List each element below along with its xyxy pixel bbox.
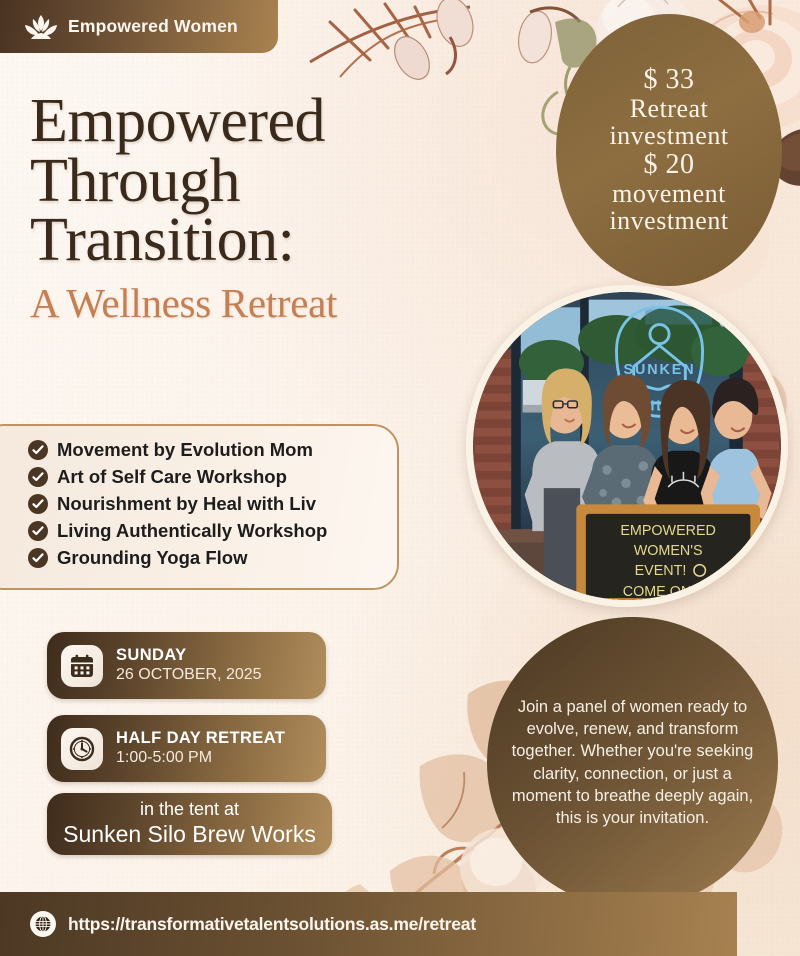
checklist-item: Art of Self Care Workshop: [28, 466, 397, 488]
globe-icon: [30, 911, 56, 937]
headline-line-1: Empowered: [30, 92, 500, 152]
event-photo-illustration: SUNKEN SILO: [473, 292, 781, 600]
pricing-badge: $ 33 Retreat investment $ 20 movement in…: [556, 14, 782, 286]
movement-price-label-2: investment: [609, 207, 728, 235]
footer-url[interactable]: https://transformativetalentsolutions.as…: [68, 914, 476, 935]
check-circle-icon: [28, 521, 48, 541]
description-text: Join a panel of women ready to evolve, r…: [509, 696, 756, 830]
checklist-item: Movement by Evolution Mom: [28, 439, 397, 461]
retreat-price-label-1: Retreat: [630, 95, 709, 123]
movement-price-amount: $ 20: [644, 150, 695, 180]
time-title: HALF DAY RETREAT: [116, 728, 285, 749]
date-title: SUNDAY: [116, 645, 262, 666]
checklist-item: Nourishment by Heal with Liv: [28, 493, 397, 515]
check-circle-icon: [28, 467, 48, 487]
movement-price-label-1: movement: [612, 180, 726, 208]
clock-icon: [61, 728, 103, 770]
time-value: 1:00-5:00 PM: [116, 748, 285, 769]
check-circle-icon: [28, 548, 48, 568]
brand-header-bar: Empowered Women: [0, 0, 278, 53]
checklist-item: Living Authentically Workshop: [28, 520, 397, 542]
poster-canvas: Empowered Women Empowered Through Transi…: [0, 0, 800, 956]
lotus-icon: [24, 14, 58, 40]
footer-bar: https://transformativetalentsolutions.as…: [0, 892, 737, 956]
time-info-text: HALF DAY RETREAT 1:00-5:00 PM: [116, 728, 285, 769]
checklist-item: Grounding Yoga Flow: [28, 547, 397, 569]
svg-text:WOMEN'S: WOMEN'S: [634, 543, 703, 559]
svg-text:EVENT!: EVENT!: [635, 563, 687, 579]
venue-info-text: in the tent at Sunken Silo Brew Works: [63, 799, 316, 848]
svg-text:COME ON IN!: COME ON IN!: [623, 584, 714, 600]
venue-prefix: in the tent at: [63, 799, 316, 821]
checklist-item-label: Art of Self Care Workshop: [57, 466, 287, 488]
program-checklist: Movement by Evolution Mom Art of Self Ca…: [0, 424, 399, 590]
headline-line-3: Transition:: [30, 211, 500, 271]
time-info-card: HALF DAY RETREAT 1:00-5:00 PM: [47, 715, 326, 782]
calendar-icon: [61, 645, 103, 687]
checklist-item-label: Nourishment by Heal with Liv: [57, 493, 316, 515]
date-info-text: SUNDAY 26 OCTOBER, 2025: [116, 645, 262, 686]
venue-info-card: in the tent at Sunken Silo Brew Works: [47, 793, 332, 855]
checklist-item-label: Movement by Evolution Mom: [57, 439, 313, 461]
retreat-price-label-2: investment: [609, 122, 728, 150]
checklist-item-label: Grounding Yoga Flow: [57, 547, 247, 569]
retreat-price-amount: $ 33: [644, 65, 695, 95]
checklist-item-label: Living Authentically Workshop: [57, 520, 327, 542]
event-photo: SUNKEN SILO: [466, 285, 788, 607]
date-info-card: SUNDAY 26 OCTOBER, 2025: [47, 632, 326, 699]
venue-name: Sunken Silo Brew Works: [63, 821, 316, 849]
headline-block: Empowered Through Transition: A Wellness…: [30, 92, 500, 327]
brand-name: Empowered Women: [68, 16, 238, 37]
description-badge: Join a panel of women ready to evolve, r…: [487, 617, 778, 908]
check-circle-icon: [28, 494, 48, 514]
headline-line-2: Through: [30, 152, 500, 212]
svg-text:EMPOWERED: EMPOWERED: [620, 523, 716, 539]
headline-subtitle: A Wellness Retreat: [30, 279, 500, 327]
check-circle-icon: [28, 440, 48, 460]
date-value: 26 OCTOBER, 2025: [116, 665, 262, 686]
